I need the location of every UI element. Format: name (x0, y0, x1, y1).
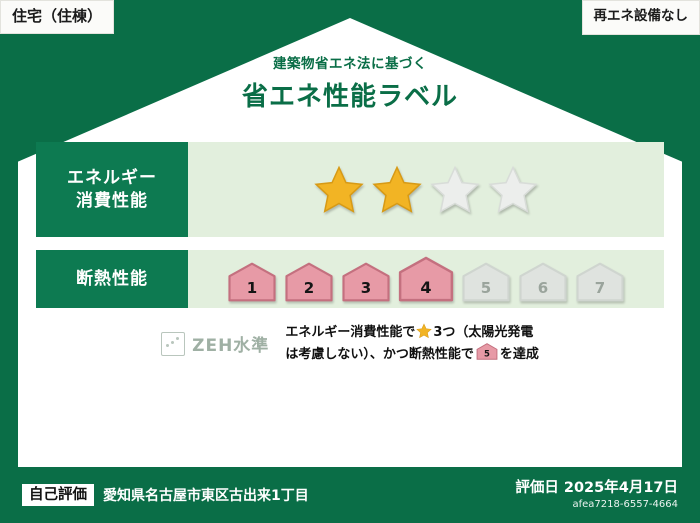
zeh-description: エネルギー消費性能で3つ（太陽光発電は考慮しない）、かつ断熱性能で5を達成 (285, 323, 539, 367)
label-header: 建築物省エネ法に基づく 省エネ性能ラベル (18, 52, 682, 113)
house-filled-icon (283, 262, 335, 302)
tab-renewable-energy[interactable]: 再エネ設備なし (582, 0, 700, 35)
insulation-performance-row: 断熱性能 1234567 (36, 250, 664, 308)
inline-star-icon (416, 323, 432, 339)
house-empty-icon (460, 262, 512, 302)
energy-consumption-row: エネルギー 消費性能 (36, 142, 664, 237)
grade-house-2: 2 (283, 262, 335, 302)
energy-consumption-label: エネルギー 消費性能 (36, 142, 188, 237)
grade-house-3: 3 (340, 262, 392, 302)
label-content: 建築物省エネ法に基づく 省エネ性能ラベル エネルギー 消費性能 断熱性能 123… (18, 18, 682, 467)
zeh-desc-part2: は考慮しない）、かつ断熱性能で (285, 347, 474, 362)
zeh-label: ZEH水準 (192, 331, 269, 356)
grade-scale: 1234567 (226, 256, 626, 302)
grade-house-4: 4 (397, 256, 455, 302)
inline-grade-number: 5 (484, 350, 490, 360)
house-filled-icon (226, 262, 278, 302)
grade-house-5: 5 (460, 262, 512, 302)
house-empty-icon (574, 262, 626, 302)
property-address: 愛知県名古屋市東区古出来1丁目 (103, 485, 309, 505)
page-title: 省エネ性能ラベル (18, 76, 682, 113)
star-filled-icon (313, 164, 365, 216)
insulation-performance-label: 断熱性能 (36, 250, 188, 308)
zeh-box-icon (161, 332, 185, 356)
zeh-desc-part3: を達成 (500, 347, 539, 362)
energy-performance-label: 住宅（住棟） 再エネ設備なし 建築物省エネ法に基づく 省エネ性能ラベル エネルギ… (0, 0, 700, 523)
zeh-desc-star-count: 3つ（太陽光発電 (433, 325, 533, 340)
footer-right-group: 評価日 2025年4月17日 afea7218-6557-4664 (515, 480, 678, 510)
insulation-label-text: 断熱性能 (76, 268, 148, 290)
grade-house-1: 1 (226, 262, 278, 302)
house-filled-icon (340, 262, 392, 302)
grade-house-6: 6 (517, 262, 569, 302)
label-id: afea7218-6557-4664 (515, 499, 678, 511)
grade-house-7: 7 (574, 262, 626, 302)
star-filled-icon (371, 164, 423, 216)
zeh-standard-block: ZEH水準 エネルギー消費性能で3つ（太陽光発電は考慮しない）、かつ断熱性能で5… (36, 323, 664, 367)
energy-label-line2: 消費性能 (76, 190, 148, 212)
insulation-performance-value: 1234567 (188, 250, 664, 308)
tab-building-type[interactable]: 住宅（住棟） (0, 0, 114, 34)
evaluation-date: 評価日 2025年4月17日 (515, 480, 678, 497)
label-footer: 自己評価 愛知県名古屋市東区古出来1丁目 評価日 2025年4月17日 afea… (0, 467, 700, 523)
zeh-desc-part1: エネルギー消費性能で (285, 325, 415, 340)
star-empty-icon (429, 164, 481, 216)
house-filled-icon (397, 256, 455, 302)
star-empty-icon (487, 164, 539, 216)
label-subtitle: 建築物省エネ法に基づく (18, 52, 682, 72)
footer-left-group: 自己評価 愛知県名古屋市東区古出来1丁目 (22, 484, 309, 507)
zeh-badge: ZEH水準 (161, 323, 269, 356)
inline-grade-badge: 5 (476, 343, 498, 367)
energy-label-line1: エネルギー (67, 167, 157, 189)
self-evaluation-badge: 自己評価 (22, 484, 94, 507)
energy-consumption-value (188, 142, 664, 237)
star-rating (313, 164, 539, 216)
house-empty-icon (517, 262, 569, 302)
